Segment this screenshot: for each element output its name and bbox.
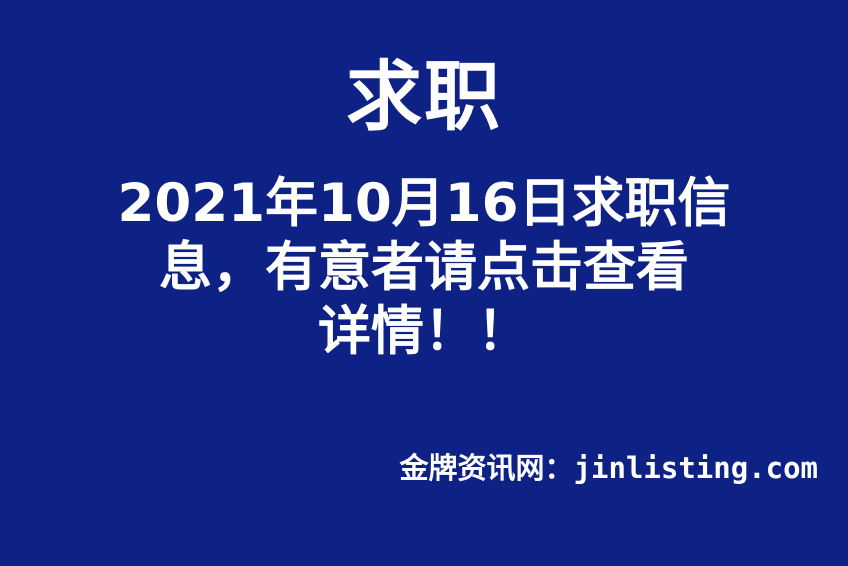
announcement-line-1: 2021年10月16日求职信 xyxy=(0,172,848,236)
site-url-label: jinlisting.com xyxy=(574,451,818,485)
announcement-text: 2021年10月16日求职信 息，有意者请点击查看 详情！！ xyxy=(0,172,848,364)
announcement-line-3: 详情！！ xyxy=(0,300,848,364)
job-posting-banner: 求职 2021年10月16日求职信 息，有意者请点击查看 详情！！ 金牌资讯网：… xyxy=(0,0,848,566)
site-name-label: 金牌资讯网： xyxy=(400,451,574,485)
site-credit: 金牌资讯网：jinlisting.com xyxy=(0,450,818,487)
page-title: 求职 xyxy=(0,52,848,142)
announcement-line-2: 息，有意者请点击查看 xyxy=(0,236,848,300)
